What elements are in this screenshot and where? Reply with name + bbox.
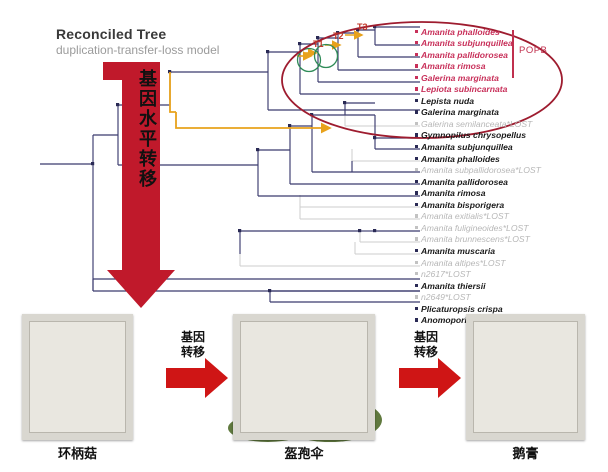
photo-caption-2: 盔孢伞 xyxy=(233,443,375,462)
gene-transfer-label-2: 基因 转移 xyxy=(404,330,448,360)
taxon-tip-marker xyxy=(415,168,418,171)
taxon-label: Galerina semilanceata*LOST xyxy=(421,119,532,129)
gt1-line2: 转移 xyxy=(171,345,215,360)
taxon-label: Amanita rimosa xyxy=(421,61,485,71)
taxon-label: Amanita bisporigera xyxy=(421,200,504,210)
taxon-tip-marker xyxy=(415,122,418,125)
vlabel-char-0: 基 xyxy=(135,70,161,90)
taxon-tip-marker xyxy=(415,64,418,67)
transfer-label-t1: T1 xyxy=(313,39,324,49)
gt1-line1: 基因 xyxy=(171,330,215,345)
taxon-tip-marker xyxy=(415,295,418,298)
taxon-label: n2617*LOST xyxy=(421,269,471,279)
taxon-label: Amanita exitialis*LOST xyxy=(421,211,509,221)
photo-frame-3[interactable] xyxy=(466,314,585,440)
taxon-label: Plicaturopsis crispa xyxy=(421,304,503,314)
taxon-tip-marker xyxy=(415,99,418,102)
photo-2 xyxy=(240,321,368,433)
taxon-label: Galerina marginata xyxy=(421,73,499,83)
taxon-label: Amanita subjunquillea xyxy=(421,142,513,152)
photo-frame-2[interactable] xyxy=(233,314,375,440)
taxon-label: Amanita phalloides xyxy=(421,27,500,37)
taxon-tip-marker xyxy=(415,272,418,275)
page-title: Reconciled Tree xyxy=(56,26,166,42)
transfer-label-t3: T3 xyxy=(357,22,368,32)
taxon-tip-marker xyxy=(415,284,418,287)
transfer-label-t2: T2 xyxy=(333,31,344,41)
page-subtitle: duplication-transfer-loss model xyxy=(56,43,219,57)
taxon-label: n2649*LOST xyxy=(421,292,471,302)
taxon-label: Amanita muscaria xyxy=(421,246,495,256)
taxon-tip-marker xyxy=(415,87,418,90)
taxon-label: Amanita fuligineoides*LOST xyxy=(421,223,528,233)
hgt-transfer-arrows xyxy=(297,35,362,56)
taxon-label: Amanita subpallidorosea*LOST xyxy=(421,165,541,175)
photo-1 xyxy=(29,321,126,433)
taxon-label: Amanita altipes*LOST xyxy=(421,258,506,268)
photo-frame-1[interactable] xyxy=(22,314,133,440)
taxa-list: Amanita phalloidesAmanita subjunquilleaA… xyxy=(421,25,608,310)
vlabel-char-3: 平 xyxy=(135,130,161,150)
taxon-tip-marker xyxy=(415,30,418,33)
internal-nodes xyxy=(91,25,376,292)
vlabel-char-2: 水 xyxy=(135,110,161,130)
taxon-label: Amanita rimosa xyxy=(421,188,485,198)
lost-branches xyxy=(240,103,420,266)
taxon-label: Galerina marginata xyxy=(421,107,499,117)
hgt-orange-path xyxy=(170,72,330,128)
taxon-tip-marker xyxy=(415,133,418,136)
taxon-tip-marker xyxy=(415,110,418,113)
taxon-tip-marker xyxy=(415,237,418,240)
species-tree-branches xyxy=(40,27,420,302)
taxon-tip-marker xyxy=(415,180,418,183)
vertical-hgt-label: 基 因 水 平 转 移 xyxy=(135,70,161,190)
taxon-label: Amanita thiersii xyxy=(421,281,485,291)
taxon-label: Lepiota subincarnata xyxy=(421,84,507,94)
taxon-tip-marker xyxy=(415,261,418,264)
photo-caption-3: 鹅膏 xyxy=(466,443,585,462)
taxon-tip-marker xyxy=(415,226,418,229)
taxon-label: Lepista nuda xyxy=(421,96,474,106)
gene-transfer-label-1: 基因 转移 xyxy=(171,330,215,360)
taxon-label: Amanita subjunquillea xyxy=(421,38,513,48)
taxon-tip-marker xyxy=(415,214,418,217)
taxon-tip-marker xyxy=(415,76,418,79)
taxon-tip-marker xyxy=(415,53,418,56)
taxon-label: Amanita pallidorosea xyxy=(421,50,508,60)
vlabel-char-5: 移 xyxy=(135,170,161,190)
vlabel-char-4: 转 xyxy=(135,150,161,170)
taxon-label: Amanita pallidorosea xyxy=(421,177,508,187)
photo-caption-1: 环柄菇 xyxy=(22,443,133,462)
taxon-tip-marker xyxy=(415,157,418,160)
gt2-line2: 转移 xyxy=(404,345,448,360)
photo-3 xyxy=(473,321,578,433)
taxon-tip-marker xyxy=(415,41,418,44)
taxon-tip-marker xyxy=(415,249,418,252)
taxon-tip-marker xyxy=(415,318,418,321)
taxon-tip-marker xyxy=(415,145,418,148)
taxon-tip-marker xyxy=(415,203,418,206)
gt2-line1: 基因 xyxy=(404,330,448,345)
taxon-label: Amanita phalloides xyxy=(421,154,500,164)
taxon-label: Gymnopilus chrysopellus xyxy=(421,130,526,140)
diagram-canvas: Reconciled Tree duplication-transfer-los… xyxy=(0,0,608,472)
taxon-label: Amanita brunnescens*LOST xyxy=(421,234,530,244)
taxon-tip-marker xyxy=(415,307,418,310)
taxon-tip-marker xyxy=(415,191,418,194)
vlabel-char-1: 因 xyxy=(135,90,161,110)
